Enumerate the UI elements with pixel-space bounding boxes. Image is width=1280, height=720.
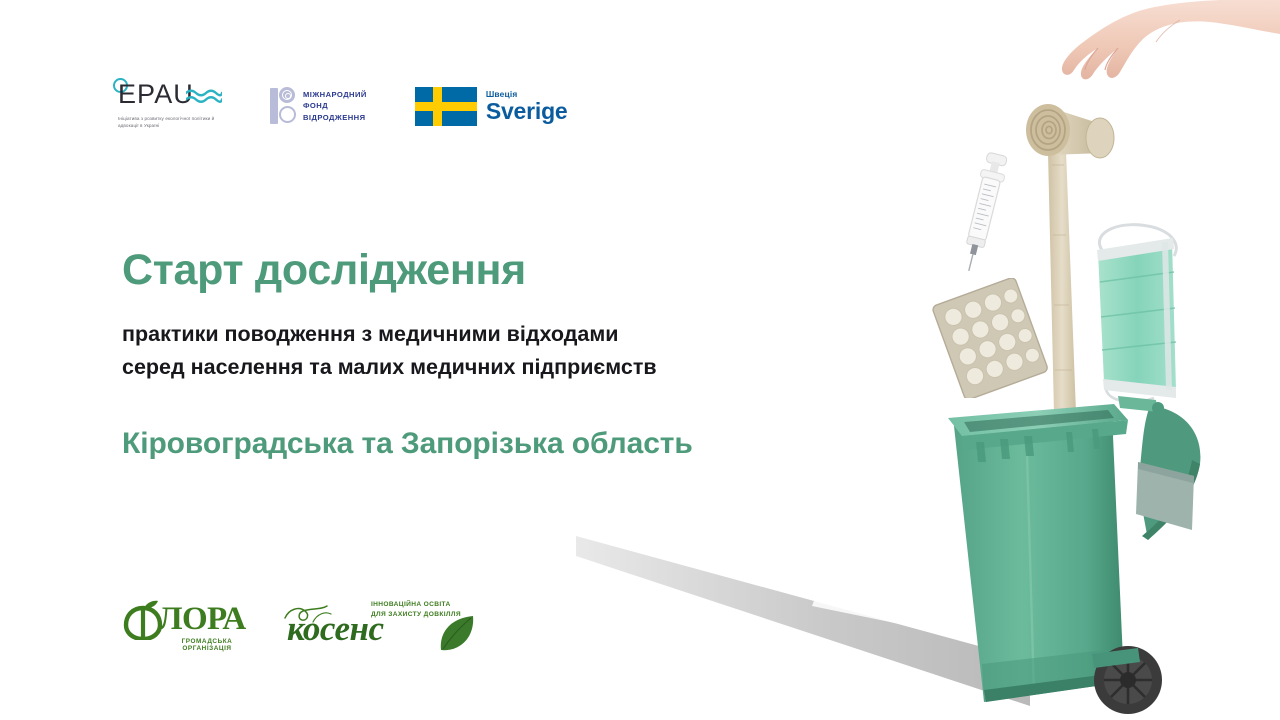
- flora-tagline: ГРОМАДСЬКА ОРГАНІЗАЦІЯ: [159, 638, 255, 652]
- irf-ring-circle-icon: [279, 106, 296, 123]
- medical-waste-photo: [560, 0, 1280, 720]
- logo-sweden-sverige: Швеція Sverige: [415, 87, 568, 126]
- logo-international-renaissance-foundation: МІЖНАРОДНИЙ ФОНД ВІДРОДЖЕННЯ: [270, 86, 367, 126]
- irf-bar-shape: [270, 88, 278, 124]
- epau-wordmark: ЕРАU: [118, 79, 194, 109]
- irf-line-2: ФОНД: [303, 100, 367, 111]
- irf-mark-icon: [270, 86, 296, 126]
- donor-logo-strip: ЕРАU Ініціатива з розвитку екологічної п…: [110, 78, 568, 126]
- syringe-icon: [950, 145, 1020, 275]
- ekosens-wordmark: косенс: [287, 610, 383, 648]
- epau-mark: ЕРАU: [110, 78, 225, 112]
- irf-spiral-circle-icon: [279, 87, 295, 103]
- logo-ekosens: косенс ІННОВАЦІЙНА ОСВІТА ДЛЯ ЗАХИСТУ ДО…: [279, 596, 479, 658]
- presentation-slide: ЕРАU Ініціатива з розвитку екологічної п…: [0, 0, 1280, 720]
- logo-epau: ЕРАU Ініціатива з розвитку екологічної п…: [110, 78, 230, 112]
- irf-line-1: МІЖНАРОДНИЙ: [303, 89, 367, 100]
- irf-line-3: ВІДРОДЖЕННЯ: [303, 112, 367, 123]
- ekosens-leaf-icon: [437, 614, 477, 656]
- partner-logo-strip: ЛОРА ГРОМАДСЬКА ОРГАНІЗАЦІЯ косенс ІННОВ…: [120, 596, 479, 658]
- epau-tagline: Ініціатива з розвитку екологічної політи…: [118, 116, 230, 129]
- ekosens-tagline-line-1: ІННОВАЦІЙНА ОСВІТА: [371, 600, 475, 610]
- swedish-flag-icon: [415, 87, 477, 126]
- epau-wave-icon: [186, 88, 222, 104]
- sweden-wordmark: Швеція Sverige: [486, 90, 568, 122]
- logo-flora: ЛОРА ГРОМАДСЬКА ОРГАНІЗАЦІЯ: [120, 596, 255, 658]
- ekosens-wordmark-text: косенс: [287, 609, 383, 648]
- green-wheeled-bin-icon: [942, 390, 1212, 720]
- flora-wordmark: ЛОРА: [158, 602, 246, 636]
- slide-headline: Старт дослідження: [122, 246, 526, 295]
- irf-wordmark: МІЖНАРОДНИЙ ФОНД ВІДРОДЖЕННЯ: [303, 89, 367, 123]
- surgical-mask-icon: [1088, 222, 1204, 407]
- sweden-label-sv: Sverige: [486, 100, 568, 123]
